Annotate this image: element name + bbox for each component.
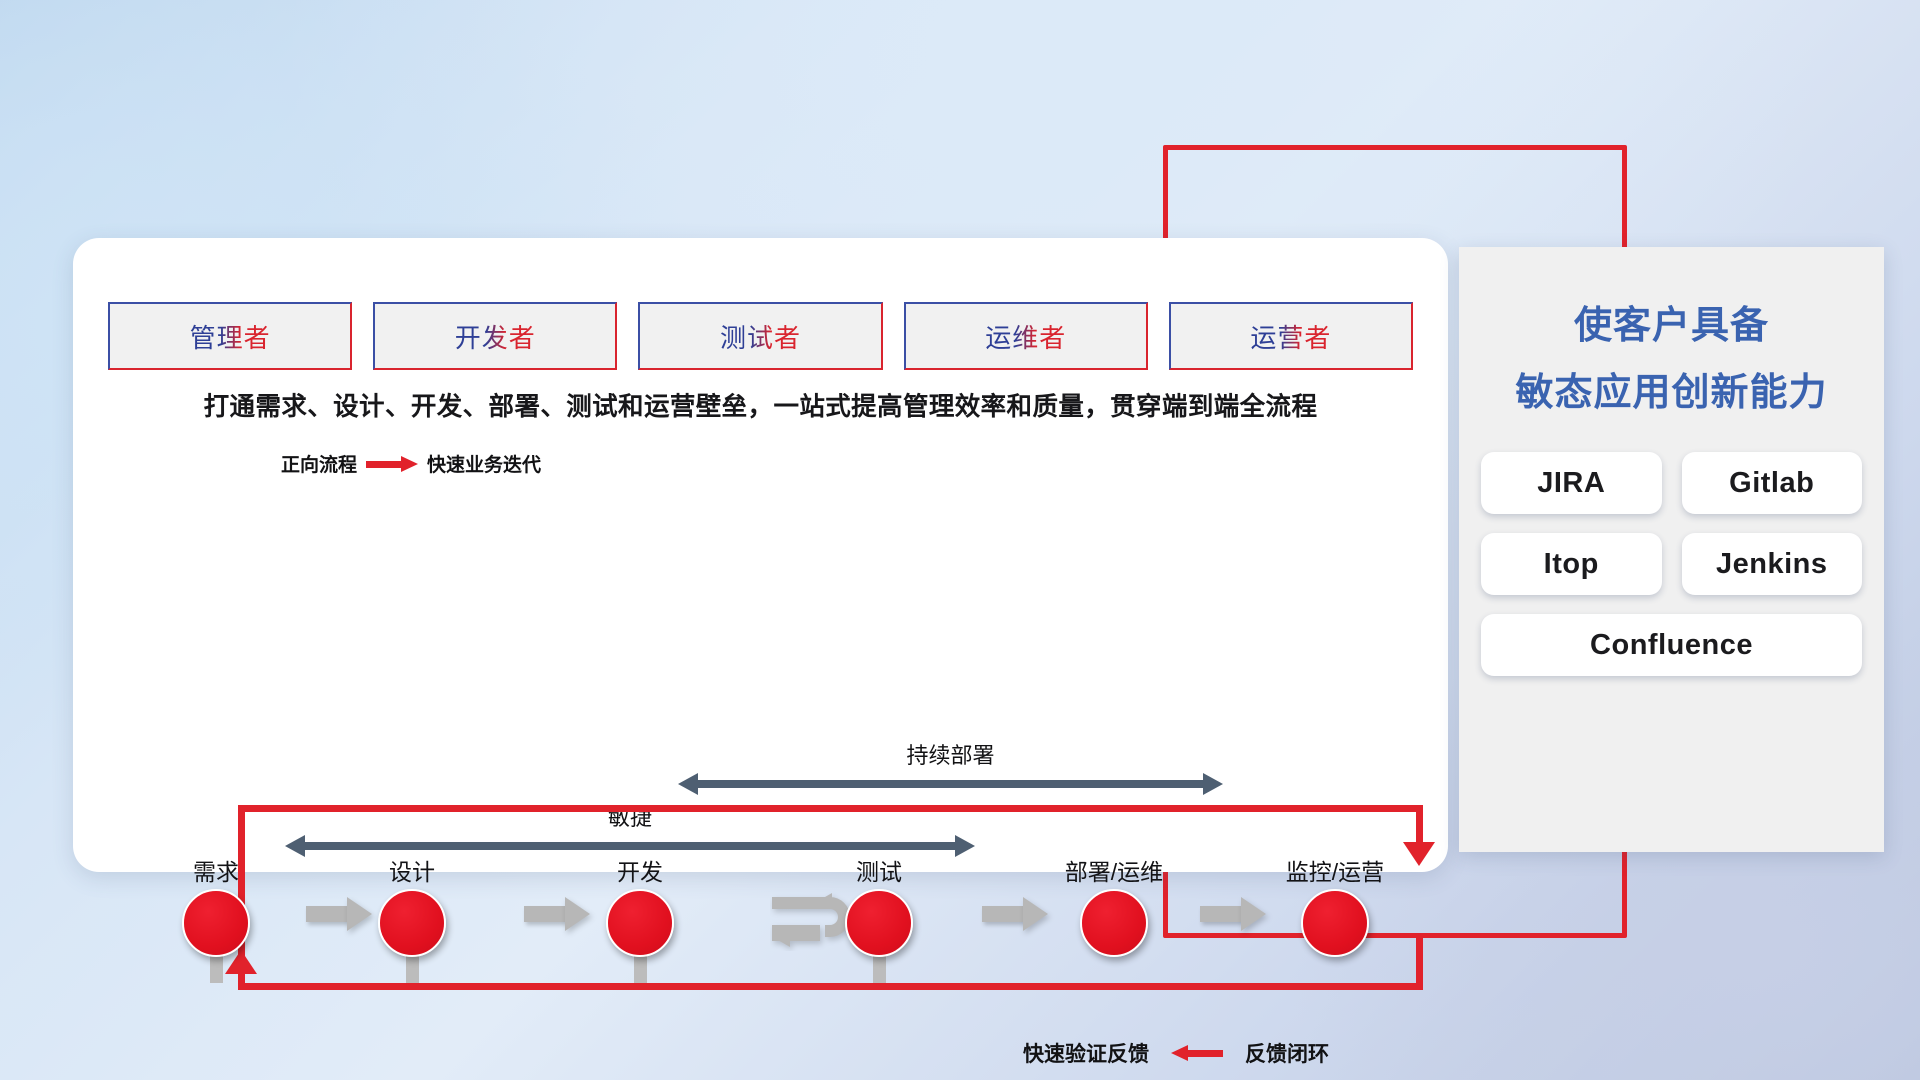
tools-grid: JIRA Gitlab Itop Jenkins Confluence <box>1459 452 1884 676</box>
delivery-pipeline: 需求 设计 开发 测试 部署/运维 监控/运营 <box>178 853 1468 968</box>
card-description: 打通需求、设计、开发、部署、测试和运营壁垒，一站式提高管理效率和质量，贯穿端到端… <box>73 386 1448 423</box>
pipeline-stage-development[interactable]: 开发 <box>602 853 678 957</box>
slide-canvas: 管理者 开发者 测试者 运维者 运营者 打通需求、设计、开发、部署、测试和运营壁… <box>0 0 1920 1080</box>
role-label: 开发者 <box>455 318 536 355</box>
feedback-loop-top-segment <box>238 805 1423 812</box>
capability-panel: 使客户具备 敏态应用创新能力 JIRA Gitlab Itop Jenkins … <box>1459 247 1884 852</box>
role-box-tester[interactable]: 测试者 <box>638 302 882 370</box>
tool-label: JIRA <box>1537 467 1605 500</box>
pipeline-arrow-right-grey-icon <box>524 897 590 931</box>
role-label: 管理者 <box>190 318 271 355</box>
role-box-developer[interactable]: 开发者 <box>373 302 617 370</box>
continuous-deployment-label: 持续部署 <box>678 738 1223 770</box>
arrow-right-red-icon <box>366 456 418 472</box>
role-label: 测试者 <box>720 318 801 355</box>
role-box-manager[interactable]: 管理者 <box>108 302 352 370</box>
stage-dot-icon <box>1301 889 1369 957</box>
stage-label: 设计 <box>374 853 450 887</box>
continuous-deployment-span: 持续部署 <box>678 738 1223 795</box>
stage-dot-icon <box>1080 889 1148 957</box>
devops-overview-card: 管理者 开发者 测试者 运维者 运营者 打通需求、设计、开发、部署、测试和运营壁… <box>73 238 1448 872</box>
legend-feedback-left-label: 快速验证反馈 <box>1023 1038 1149 1068</box>
pipeline-stage-monitor-operations[interactable]: 监控/运营 <box>1271 853 1399 957</box>
panel-title-line-1: 使客户具备 <box>1459 294 1884 349</box>
double-arrow-icon <box>678 773 1223 795</box>
arrow-left-red-icon <box>1171 1045 1223 1061</box>
tool-chip-jenkins[interactable]: Jenkins <box>1682 533 1863 595</box>
legend-feedback-right-label: 反馈闭环 <box>1245 1038 1329 1068</box>
stage-dot-icon <box>606 889 674 957</box>
pipeline-arrow-right-grey-icon <box>306 897 372 931</box>
pipeline-stage-design[interactable]: 设计 <box>374 853 450 957</box>
stage-dot-icon <box>845 889 913 957</box>
legend-forward-flow: 正向流程 快速业务迭代 <box>281 450 541 477</box>
roles-row: 管理者 开发者 测试者 运维者 运营者 <box>108 302 1413 370</box>
feedback-loop-bottom-segment <box>238 983 1423 990</box>
tool-chip-confluence[interactable]: Confluence <box>1481 614 1862 676</box>
stage-label: 需求 <box>178 853 254 887</box>
stage-label: 开发 <box>602 853 678 887</box>
tool-chip-jira[interactable]: JIRA <box>1481 452 1662 514</box>
tool-label: Itop <box>1544 548 1599 581</box>
stage-label: 监控/运营 <box>1271 853 1399 887</box>
panel-title-line-2: 敏态应用创新能力 <box>1459 361 1884 416</box>
tool-label: Gitlab <box>1729 467 1814 500</box>
stage-label: 测试 <box>841 853 917 887</box>
tool-chip-itop[interactable]: Itop <box>1481 533 1662 595</box>
stage-dot-icon <box>378 889 446 957</box>
pipeline-arrow-right-grey-icon <box>982 897 1048 931</box>
legend-forward-left-label: 正向流程 <box>281 450 357 477</box>
tool-label: Confluence <box>1590 629 1753 662</box>
role-box-ops[interactable]: 运维者 <box>904 302 1148 370</box>
pipeline-stage-testing[interactable]: 测试 <box>841 853 917 957</box>
pipeline-stage-requirements[interactable]: 需求 <box>178 853 254 957</box>
pipeline-arrow-right-grey-icon <box>1200 897 1266 931</box>
role-label: 运维者 <box>985 318 1066 355</box>
legend-feedback-loop: 快速验证反馈 反馈闭环 <box>1023 1038 1329 1068</box>
role-label: 运营者 <box>1250 318 1331 355</box>
tool-chip-gitlab[interactable]: Gitlab <box>1682 452 1863 514</box>
legend-forward-right-label: 快速业务迭代 <box>427 450 541 477</box>
stage-label: 部署/运维 <box>1054 853 1174 887</box>
pipeline-stage-deploy-ops[interactable]: 部署/运维 <box>1054 853 1174 957</box>
stage-dot-icon <box>182 889 250 957</box>
role-box-operations[interactable]: 运营者 <box>1169 302 1413 370</box>
tool-label: Jenkins <box>1716 548 1828 581</box>
